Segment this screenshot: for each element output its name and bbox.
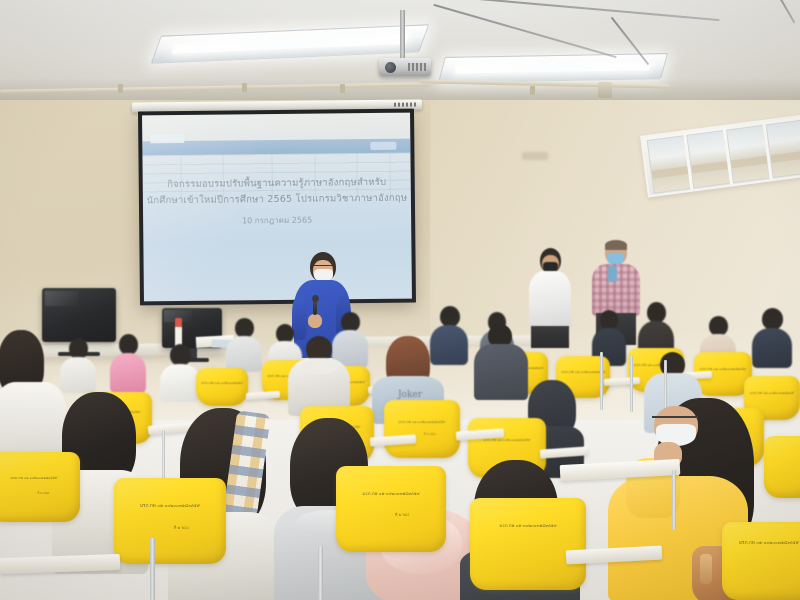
- junction-box: [598, 82, 612, 98]
- chair-asset-subtag: ที่ ๒ ของ: [369, 512, 435, 518]
- chair-leg: [150, 538, 155, 600]
- wall-scuff-mark: [522, 152, 548, 160]
- audience-member-hoodie: [288, 336, 350, 414]
- slide-text-block: กิจกรรมอบรมปรับพื้นฐานความรู้ภาษาอังกฤษส…: [143, 175, 412, 236]
- projection-screen: กิจกรรมอบรมปรับพื้นฐานความรู้ภาษาอังกฤษส…: [138, 109, 416, 306]
- hood: [300, 360, 338, 374]
- student-chair: มรภ.กพ ๐๑-๐๐๒๐๐๓๑๘๓/๕๙ ที่ ๒ ของ: [114, 478, 226, 564]
- chair-asset-tag: มรภ.กพ ๐๑-๐๐๒๐๐๓๑๘๓/๕๙: [750, 391, 795, 396]
- student-chair: มรภ.กพ ๐๑-๐๐๒๐๐๓๑๘๓/๕๙ ที่ ๒ ของ: [384, 400, 460, 458]
- slide-date: 10 กรกฎาคม 2565: [143, 207, 411, 236]
- lanyard: [608, 266, 617, 282]
- chair-asset-tag: มรภ.กพ ๐๑-๐๐๒๐๐๓๑๘๓/๕๙: [482, 524, 575, 529]
- speaker-hand: [308, 314, 322, 328]
- audience-member: [160, 344, 200, 402]
- conduit-clip: [118, 84, 123, 93]
- microphone: [313, 300, 317, 315]
- projector-mount-pole: [400, 10, 405, 62]
- chair-asset-tag: มรภ.กพ ๐๑-๐๐๒๐๐๓๑๘๓/๕๙: [0, 476, 71, 481]
- student-chair: มรภ.กพ ๐๑-๐๐๒๐๐๓๑๘๓/๕๙: [196, 368, 248, 406]
- chair-asset-subtag: ที่ ๒ ของ: [148, 524, 215, 531]
- chair-asset-tag: มรภ.กพ ๐๑-๐๐๒๐๐๓๑๘๓/๕๙: [392, 420, 453, 425]
- audience-member: [752, 308, 792, 368]
- slide-toolbar-button: [370, 142, 396, 150]
- torso-white-shirt: [529, 271, 571, 329]
- projector-lens: [385, 62, 396, 73]
- projector-vent: [408, 63, 426, 71]
- student-chair: มรภ.กพ ๐๑-๐๐๒๐๐๓๑๘๓/๕๙: [722, 522, 800, 600]
- chair-leg: [672, 470, 676, 530]
- student-chair: มรภ.กพ ๐๑-๐๐๒๐๐๓๑๘๓/๕๙ ที่ ๒ ของ: [336, 466, 446, 552]
- student-chair: [764, 436, 800, 498]
- chair-asset-tag: มรภ.กพ ๐๑-๐๐๒๐๐๓๑๘๓/๕๙: [125, 504, 215, 509]
- fluorescent-tube-light: [438, 53, 668, 83]
- standing-attendee-white-shirt: [526, 248, 574, 346]
- chair-asset-subtag: ที่ ๒ ของ: [16, 491, 71, 496]
- slide-toolbar-tab: [150, 134, 184, 143]
- conduit-clip: [530, 86, 535, 95]
- chair-asset-tag: มรภ.กพ ๐๑-๐๐๒๐๐๓๑๘๓/๕๙: [347, 492, 435, 497]
- student-chair: มรภ.กพ ๐๑-๐๐๒๐๐๓๑๘๓/๕๙ ที่ ๒ ของ: [0, 452, 80, 522]
- conduit-clip: [340, 84, 345, 93]
- chair-asset-tag: มรภ.กพ ๐๑-๐๐๒๐๐๓๑๘๓/๕๙: [561, 370, 604, 375]
- classroom-photo: กิจกรรมอบรมปรับพื้นฐานความรู้ภาษาอังกฤษส…: [0, 0, 800, 600]
- chair-asset-tag: มรภ.กพ ๐๑-๐๐๒๐๐๓๑๘๓/๕๙: [201, 381, 243, 386]
- audience-member: [226, 318, 262, 370]
- screen-housing-vent: [394, 103, 416, 107]
- ceiling-projector: [379, 58, 431, 76]
- chair-asset-tag: มรภ.กพ ๐๑-๐๐๒๐๐๓๑๘๓/๕๙: [731, 541, 800, 546]
- eyeglasses: [313, 265, 333, 268]
- student-chair: มรภ.กพ ๐๑-๐๐๒๐๐๓๑๘๓/๕๙: [470, 498, 586, 590]
- trousers: [531, 326, 569, 348]
- hair: [605, 240, 627, 250]
- audience-member: [110, 334, 146, 392]
- chair-leg: [318, 546, 323, 600]
- conduit-clip: [242, 83, 247, 92]
- screen-surface: กิจกรรมอบรมปรับพื้นฐานความรู้ภาษาอังกฤษส…: [142, 113, 412, 302]
- backpack-strap: [700, 554, 712, 584]
- chair-leg: [162, 430, 165, 482]
- chair-asset-tag: มรภ.กพ ๐๑-๐๐๒๐๐๓๑๘๓/๕๙: [476, 438, 538, 443]
- eyeglasses: [652, 416, 698, 421]
